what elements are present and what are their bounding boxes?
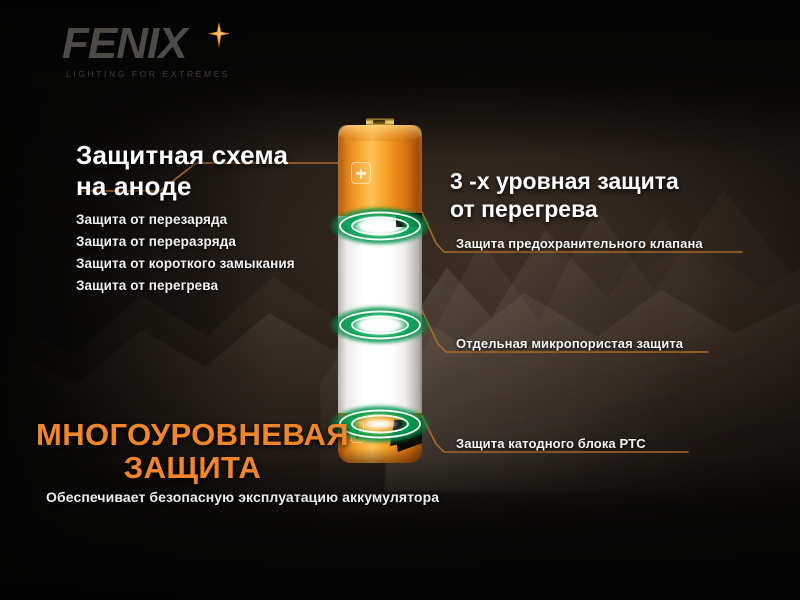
fenix-logo: FENIX LIGHTING FOR EXTREMES bbox=[62, 22, 272, 82]
poster-canvas: FENIX LIGHTING FOR EXTREMES bbox=[0, 0, 800, 600]
overheat-heading-line2: от перегрева bbox=[450, 196, 750, 224]
callout-label-valve: Защита предохранительного клапана bbox=[456, 236, 703, 251]
main-headline-line2: ЗАЩИТА bbox=[0, 451, 385, 484]
anode-heading-line1: Защитная схема bbox=[76, 140, 356, 171]
anode-heading-line2: на аноде bbox=[76, 171, 356, 202]
overheat-heading: 3 -х уровная защита от перегрева bbox=[450, 168, 750, 223]
list-item: Защита от перегрева bbox=[76, 275, 376, 297]
list-item: Защита от перезаряда bbox=[76, 209, 376, 231]
main-subtitle: Обеспечивает безопасную эксплуатацию акк… bbox=[46, 489, 439, 505]
callout-label-ptc: Защита катодного блока PTC bbox=[456, 436, 646, 451]
anode-heading: Защитная схема на аноде bbox=[76, 140, 356, 201]
logo-wordmark: FENIX bbox=[62, 22, 272, 66]
battery-cutaway-top bbox=[396, 213, 422, 227]
callout-label-microporous: Отдельная микропористая защита bbox=[456, 336, 683, 351]
main-headline-line1: МНОГОУРОВНЕВАЯ bbox=[0, 418, 385, 451]
list-item: Защита от переразряда bbox=[76, 231, 376, 253]
overheat-heading-line1: 3 -х уровная защита bbox=[450, 168, 750, 196]
battery-top-rim bbox=[338, 125, 422, 141]
list-item: Защита от короткого замыкания bbox=[76, 253, 376, 275]
anode-feature-list: Защита от перезаряда Защита от переразря… bbox=[76, 209, 376, 297]
logo-tagline: LIGHTING FOR EXTREMES bbox=[66, 69, 272, 79]
main-headline: МНОГОУРОВНЕВАЯ ЗАЩИТА bbox=[0, 418, 385, 485]
